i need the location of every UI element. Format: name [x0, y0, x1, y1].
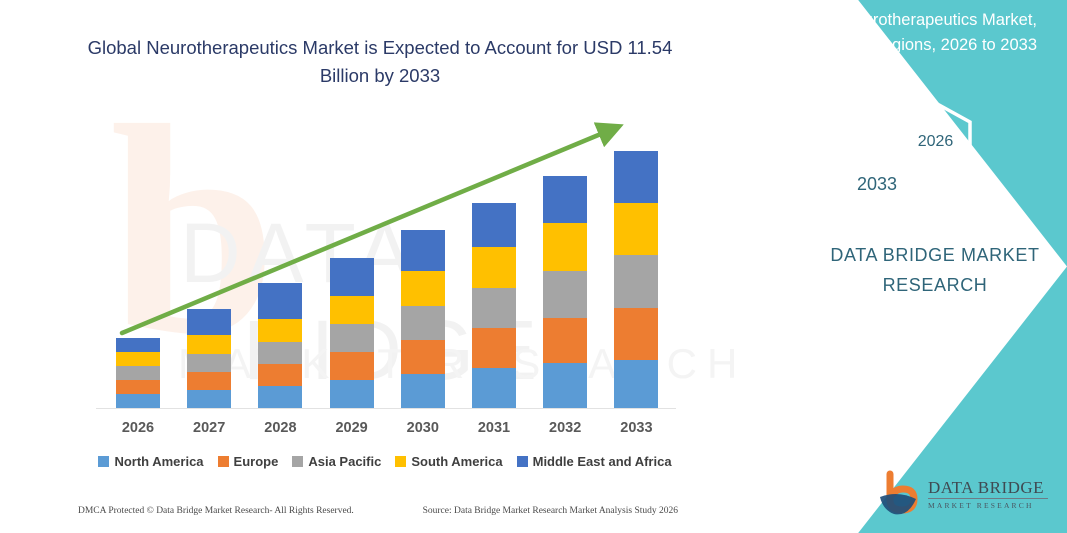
- bar-segment: [543, 363, 587, 408]
- company-logo-text: DATA BRIDGE MARKET RESEARCH: [928, 478, 1048, 510]
- bar-2031: [472, 203, 516, 408]
- bar-segment: [116, 352, 160, 366]
- bar-segment: [401, 271, 445, 306]
- bar-segment: [543, 318, 587, 363]
- legend-item[interactable]: South America: [395, 454, 502, 469]
- legend-item[interactable]: Europe: [218, 454, 279, 469]
- bar-segment: [614, 360, 658, 408]
- bar-segment: [187, 390, 231, 408]
- bar-segment: [472, 203, 516, 247]
- bar-segment: [116, 380, 160, 394]
- bar-segment: [543, 271, 587, 318]
- hexagon-2026-label: 2026: [918, 133, 954, 151]
- bar-2029: [330, 258, 374, 408]
- x-axis-label-2026: 2026: [108, 420, 168, 436]
- bar-segment: [116, 394, 160, 408]
- panel-brand-text: DATA BRIDGE MARKET RESEARCH: [820, 240, 1050, 300]
- logo-subtitle: MARKET RESEARCH: [928, 498, 1048, 510]
- legend-label: North America: [114, 454, 203, 469]
- bar-2026: [116, 338, 160, 408]
- legend-label: Asia Pacific: [308, 454, 381, 469]
- panel-title: Global Neurotherapeutics Market, By Regi…: [737, 8, 1037, 58]
- bar-2030: [401, 230, 445, 408]
- legend-swatch-icon: [395, 456, 406, 467]
- bar-segment: [258, 386, 302, 408]
- bar-segment: [187, 309, 231, 335]
- legend-swatch-icon: [218, 456, 229, 467]
- x-axis-label-2033: 2033: [606, 420, 666, 436]
- legend-item[interactable]: Asia Pacific: [292, 454, 381, 469]
- bar-segment: [187, 354, 231, 372]
- x-axis-label-2031: 2031: [464, 420, 524, 436]
- bar-segment: [401, 374, 445, 408]
- legend-item[interactable]: Middle East and Africa: [517, 454, 672, 469]
- x-axis-line: [96, 408, 676, 409]
- bar-segment: [330, 258, 374, 296]
- bar-segment: [614, 203, 658, 255]
- bar-segment: [258, 319, 302, 342]
- footer-source: Source: Data Bridge Market Research Mark…: [423, 506, 678, 516]
- bar-2027: [187, 309, 231, 408]
- x-axis-label-2032: 2032: [535, 420, 595, 436]
- panel-title-line1: Global Neurotherapeutics Market,: [737, 8, 1037, 33]
- bar-segment: [187, 372, 231, 390]
- bar-segment: [258, 364, 302, 386]
- legend-label: Europe: [234, 454, 279, 469]
- bar-segment: [401, 306, 445, 340]
- bar-segment: [401, 230, 445, 271]
- hexagon-2033-label: 2033: [857, 174, 897, 195]
- legend-swatch-icon: [292, 456, 303, 467]
- bar-segment: [614, 308, 658, 360]
- panel-brand-line2: RESEARCH: [820, 270, 1050, 300]
- bar-segment: [543, 223, 587, 271]
- x-axis-label-2030: 2030: [393, 420, 453, 436]
- logo-title: DATA BRIDGE: [928, 478, 1048, 497]
- x-axis-label-2027: 2027: [179, 420, 239, 436]
- chart-legend: North AmericaEuropeAsia PacificSouth Ame…: [90, 454, 680, 469]
- bar-segment: [543, 176, 587, 223]
- bar-segment: [472, 328, 516, 368]
- footer: DMCA Protected © Data Bridge Market Rese…: [78, 506, 678, 516]
- bar-2032: [543, 176, 587, 408]
- bar-segment: [330, 324, 374, 352]
- bar-segment: [258, 342, 302, 364]
- bar-segment: [614, 151, 658, 203]
- legend-label: Middle East and Africa: [533, 454, 672, 469]
- bar-segment: [401, 340, 445, 374]
- panel-title-line2: By Regions, 2026 to 2033: [737, 33, 1037, 58]
- bar-segment: [116, 366, 160, 380]
- bar-segment: [116, 338, 160, 352]
- bar-segment: [614, 255, 658, 308]
- panel-brand-line1: DATA BRIDGE MARKET: [820, 240, 1050, 270]
- bar-segment: [258, 283, 302, 319]
- footer-copyright: DMCA Protected © Data Bridge Market Rese…: [78, 506, 354, 516]
- bar-2028: [258, 283, 302, 408]
- bar-segment: [472, 368, 516, 408]
- legend-item[interactable]: North America: [98, 454, 203, 469]
- legend-swatch-icon: [517, 456, 528, 467]
- bar-segment: [472, 247, 516, 288]
- legend-label: South America: [411, 454, 502, 469]
- bar-segment: [472, 288, 516, 328]
- x-axis-label-2029: 2029: [322, 420, 382, 436]
- infographic-page: b DATA BRIDGE MARKET RESEARCH Global Neu…: [0, 0, 1067, 533]
- bar-segment: [330, 296, 374, 324]
- legend-swatch-icon: [98, 456, 109, 467]
- bar-segment: [330, 380, 374, 408]
- bar-segment: [330, 352, 374, 380]
- x-axis-label-2028: 2028: [250, 420, 310, 436]
- bar-segment: [187, 335, 231, 354]
- bar-2033: [614, 151, 658, 408]
- hexagon-2026: 2026: [898, 100, 973, 184]
